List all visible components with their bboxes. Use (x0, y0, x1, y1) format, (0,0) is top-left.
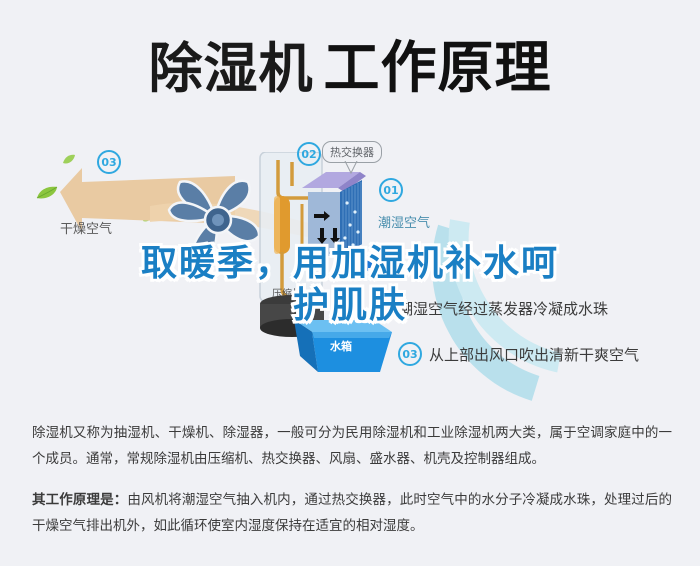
badge-02: 02 (297, 142, 321, 166)
paragraph-1: 除湿机又称为抽湿机、干燥机、除湿器，一般可分为民用除湿机和工业除湿机两大类，属于… (32, 420, 672, 473)
heat-exchanger-icon (300, 170, 358, 265)
page-root: 除湿机 工作原理 (0, 0, 700, 566)
dehumidifier-diagram: 03 干燥空气 (0, 110, 700, 395)
step-row-2: 03 从上部出风口吹出清新干爽空气 (398, 342, 639, 366)
step-1-text: 潮湿空气经过蒸发器冷凝成水珠 (398, 298, 608, 319)
paragraph-2-text: 由风机将潮湿空气抽入机内，通过热交换器，此时空气中的水分子冷凝成水珠，处理过后的… (32, 492, 672, 534)
air-intake-arrow-icon (356, 255, 392, 275)
badge-01: 01 (379, 178, 403, 202)
badge-03-step: 03 (398, 342, 422, 366)
article-body: 除湿机又称为抽湿机、干燥机、除湿器，一般可分为民用除湿机和工业除湿机两大类，属于… (32, 420, 672, 553)
label-water-tank: 水箱 (330, 338, 352, 354)
page-title: 除湿机 工作原理 (0, 30, 700, 108)
leaf-icon (36, 185, 58, 204)
step-row-1: 潮湿空气经过蒸发器冷凝成水珠 (398, 298, 608, 319)
page-title-part1: 除湿机 (149, 42, 314, 96)
paragraph-2-lead: 其工作原理是： (32, 492, 127, 508)
label-humid-air: 潮湿空气 (378, 212, 430, 231)
page-title-part2: 工作原理 (324, 41, 552, 97)
step-2-text: 从上部出风口吹出清新干爽空气 (429, 344, 639, 365)
label-dry-air: 干燥空气 (60, 218, 112, 237)
callout-tail-icon (343, 160, 359, 179)
badge-03-top: 03 (97, 150, 121, 174)
paragraph-1-text: 除湿机又称为抽湿机、干燥机、除湿器，一般可分为民用除湿机和工业除湿机两大类，属于… (32, 425, 672, 467)
label-compressor: 压缩机 (272, 285, 302, 300)
paragraph-2: 其工作原理是：由风机将潮湿空气抽入机内，通过热交换器，此时空气中的水分子冷凝成水… (32, 487, 672, 540)
